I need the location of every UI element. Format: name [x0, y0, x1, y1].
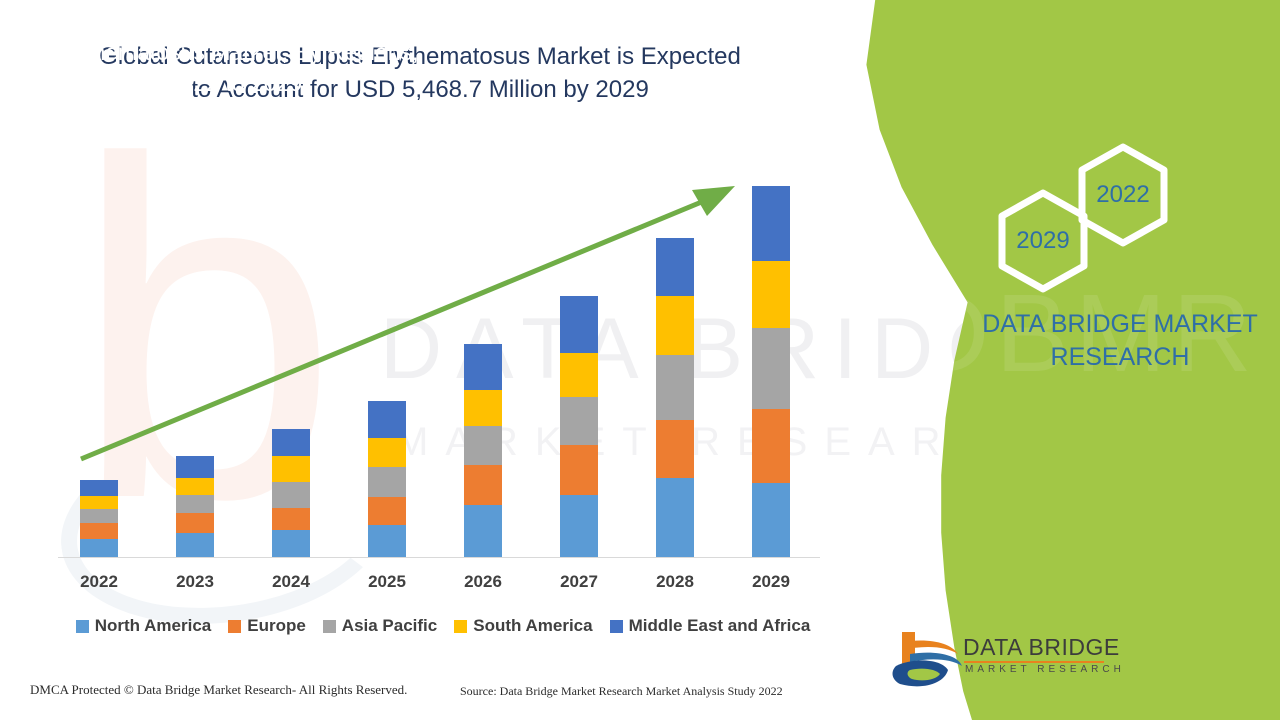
infographic-canvas: b DATA BRIDGE MARKET RESEARCH Global Cut…: [0, 0, 1280, 720]
bar-segment: [560, 353, 598, 397]
data-bridge-logo: DATA BRIDGE MARKET RESEARCH: [888, 628, 1118, 702]
bar-segment: [560, 397, 598, 445]
bar-segment: [272, 508, 310, 530]
bar-segment: [80, 539, 118, 557]
bar-2026: [464, 344, 502, 557]
panel-brand-line2: RESEARCH: [955, 341, 1280, 374]
panel-brand-line1: DATA BRIDGE MARKET: [955, 308, 1280, 341]
panel-title: Global Cutaneous Lupus Erythematosus Mar…: [40, 0, 430, 99]
bar-segment: [272, 429, 310, 456]
bar-segment: [752, 409, 790, 483]
bar-segment: [80, 509, 118, 523]
bar-segment: [560, 445, 598, 495]
chart-legend: North AmericaEuropeAsia PacificSouth Ame…: [58, 616, 828, 636]
legend-label: North America: [95, 616, 212, 636]
bar-segment: [80, 496, 118, 509]
bar-segment: [752, 328, 790, 409]
bar-segment: [272, 456, 310, 482]
legend-item-europe[interactable]: Europe: [228, 616, 306, 636]
bar-2023: [176, 456, 214, 557]
bar-2027: [560, 296, 598, 557]
bar-segment: [176, 456, 214, 478]
legend-swatch-icon: [228, 620, 241, 633]
legend-item-middle-east-and-africa[interactable]: Middle East and Africa: [610, 616, 811, 636]
hexagon-end-year: 2029: [995, 188, 1091, 294]
bar-segment: [752, 261, 790, 328]
bar-segment: [464, 465, 502, 505]
hexagon-end-year-label: 2029: [995, 227, 1091, 255]
panel-title-line1: Global Cutaneous Lupus: [40, 6, 430, 37]
bar-segment: [656, 355, 694, 420]
bar-segment: [80, 480, 118, 496]
legend-label: Europe: [247, 616, 306, 636]
x-axis-label-2023: 2023: [147, 572, 243, 592]
bar-2022: [80, 480, 118, 557]
bar-2029: [752, 186, 790, 557]
bar-segment: [176, 478, 214, 495]
bar-segment: [272, 482, 310, 508]
legend-label: Middle East and Africa: [629, 616, 811, 636]
x-axis-label-2025: 2025: [339, 572, 435, 592]
bar-segment: [176, 513, 214, 533]
bar-segment: [80, 523, 118, 539]
x-axis-label-2029: 2029: [723, 572, 819, 592]
panel-title-line3: 2022 to 2029: [40, 68, 430, 99]
legend-swatch-icon: [610, 620, 623, 633]
legend-swatch-icon: [76, 620, 89, 633]
bar-segment: [560, 495, 598, 557]
bar-segment: [752, 186, 790, 261]
legend-label: Asia Pacific: [342, 616, 437, 636]
bar-segment: [656, 296, 694, 355]
legend-item-south-america[interactable]: South America: [454, 616, 592, 636]
bar-segment: [176, 533, 214, 557]
legend-label: South America: [473, 616, 592, 636]
legend-item-north-america[interactable]: North America: [76, 616, 212, 636]
logo-mark-icon: [888, 628, 968, 698]
bar-segment: [464, 505, 502, 557]
bar-segment: [272, 530, 310, 557]
bar-segment: [560, 296, 598, 353]
x-axis-label-2028: 2028: [627, 572, 723, 592]
bar-segment: [464, 344, 502, 390]
bar-2025: [368, 401, 406, 557]
x-axis-label-2026: 2026: [435, 572, 531, 592]
panel-title-line2: Erythematosus Market, By Regions,: [40, 37, 430, 68]
bar-segment: [464, 426, 502, 465]
bar-2028: [656, 238, 694, 557]
bar-segment: [368, 497, 406, 525]
bar-segment: [656, 478, 694, 557]
panel-brand: DATA BRIDGE MARKET RESEARCH: [955, 308, 1280, 374]
bar-segment: [368, 438, 406, 467]
bar-segment: [368, 525, 406, 557]
x-axis-label-2022: 2022: [51, 572, 147, 592]
bar-segment: [464, 390, 502, 426]
bar-2024: [272, 429, 310, 557]
legend-item-asia-pacific[interactable]: Asia Pacific: [323, 616, 437, 636]
legend-swatch-icon: [454, 620, 467, 633]
bar-segment: [368, 467, 406, 497]
logo-tagline: MARKET RESEARCH: [965, 664, 1125, 675]
footer-copyright: DMCA Protected © Data Bridge Market Rese…: [30, 682, 407, 698]
logo-divider: [964, 661, 1104, 663]
logo-name: DATA BRIDGE: [963, 634, 1120, 661]
bar-segment: [656, 420, 694, 478]
x-axis-label-2024: 2024: [243, 572, 339, 592]
bar-segment: [368, 401, 406, 438]
footer-source: Source: Data Bridge Market Research Mark…: [460, 684, 783, 699]
bar-segment: [176, 495, 214, 513]
chart-baseline-axis: [58, 557, 820, 558]
x-axis-label-2027: 2027: [531, 572, 627, 592]
bar-segment: [752, 483, 790, 557]
legend-swatch-icon: [323, 620, 336, 633]
bar-segment: [656, 238, 694, 296]
